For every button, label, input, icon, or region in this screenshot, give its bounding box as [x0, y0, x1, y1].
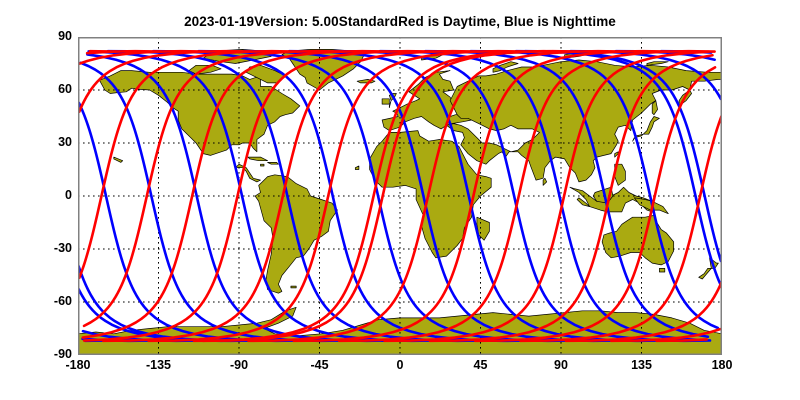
title-date: 2023-01-19	[184, 14, 254, 29]
y-tick-60: 60	[26, 82, 72, 96]
title-legend: Red is Daytime, Blue is Nighttime	[398, 14, 616, 29]
map-plot-area	[78, 37, 722, 355]
y-tick-30: 30	[26, 135, 72, 149]
page-title: 2023-01-19Version: 5.00StandardRed is Da…	[0, 14, 800, 29]
x-tick-180: 180	[692, 358, 752, 372]
x-tick-90: 90	[531, 358, 591, 372]
y-tick-neg30: -30	[26, 241, 72, 255]
x-tick-neg135: -135	[129, 358, 189, 372]
title-mode: Standard	[339, 14, 398, 29]
land-ireland	[382, 99, 389, 104]
title-version: Version: 5.00	[254, 14, 339, 29]
world-map-svg	[78, 37, 722, 355]
y-tick-neg60: -60	[26, 294, 72, 308]
x-tick-neg180: -180	[48, 358, 108, 372]
x-tick-neg45: -45	[290, 358, 350, 372]
x-tick-45: 45	[451, 358, 511, 372]
x-tick-neg90: -90	[209, 358, 269, 372]
y-tick-90: 90	[26, 29, 72, 43]
track-daytime-descending	[657, 339, 707, 340]
ground-track-figure: 2023-01-19Version: 5.00StandardRed is Da…	[0, 0, 800, 400]
x-tick-135: 135	[612, 358, 672, 372]
x-tick-0: 0	[370, 358, 430, 372]
y-tick-0: 0	[26, 188, 72, 202]
land-jamaica	[261, 164, 265, 166]
land-tasmania	[659, 268, 664, 272]
land-falkland	[291, 286, 296, 288]
